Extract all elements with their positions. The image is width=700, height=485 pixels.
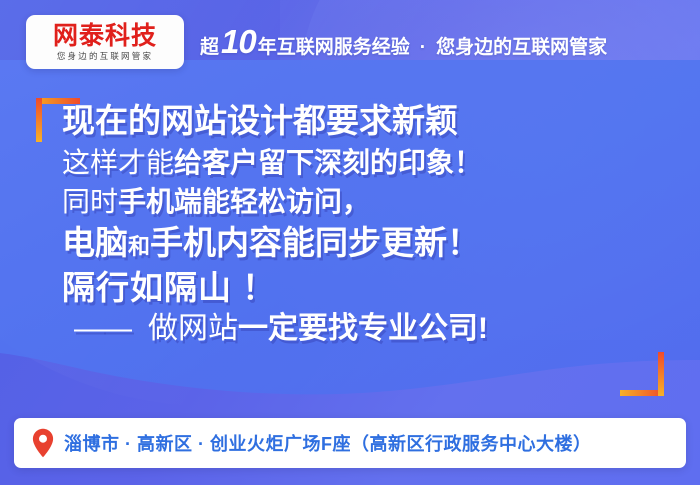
tagline-tail: 您身边的互联网管家 [436,32,607,59]
corner-bracket-bottom-right-icon [620,352,664,396]
headline-em-dash: —— [74,314,130,344]
tagline-prefix: 超 [200,32,219,59]
headline-line-6: ——做网站一定要找专业公司! [62,314,662,344]
location-pin-icon [32,428,54,458]
headline-line-6-bold: 一定要找专业公司! [238,312,488,345]
header-tagline: 超 10 年互联网服务经验 · 您身边的互联网管家 [200,23,607,61]
tagline-separator: · [420,37,426,59]
logo-slogan: 您身边的互联网管家 [57,52,153,61]
tagline-rest: 年互联网服务经验 [258,32,410,59]
headline-line-2: 这样才能给客户留下深刻的印象！ [62,149,662,177]
promo-banner: 网泰科技 您身边的互联网管家 超 10 年互联网服务经验 · 您身边的互联网管家… [0,0,700,485]
headline-line-3-bold: 手机端能轻松访问， [118,186,370,217]
headline-line-4-part-b: 手机内容能同步更新！ [150,224,480,261]
headline-line-3: 同时手机端能轻松访问， [62,188,662,216]
logo-name: 网泰科技 [53,23,157,48]
headline-block: 现在的网站设计都要求新颖 这样才能给客户留下深刻的印象！ 同时手机端能轻松访问，… [62,104,662,344]
headline-line-4: 电脑和手机内容能同步更新！ [62,226,662,259]
headline-line-5: 隔行如隔山 ！ [62,271,662,304]
company-logo: 网泰科技 您身边的互联网管家 [26,15,184,69]
headline-line-6-light: 做网站 [148,312,238,345]
tagline-years-number: 10 [221,23,256,61]
bracket-vertical-bar [36,98,42,142]
footer-address-bar: 淄博市 · 高新区 · 创业火炬广场F座（高新区行政服务中心大楼） [14,418,686,468]
headline-line-1: 现在的网站设计都要求新颖 [62,104,662,137]
headline-line-4-part-a: 电脑 [62,224,128,261]
headline-line-2-bold: 给客户留下深刻的印象！ [174,147,482,178]
footer-address-text: 淄博市 · 高新区 · 创业火炬广场F座（高新区行政服务中心大楼） [64,430,592,456]
headline-line-2-light: 这样才能 [62,147,174,178]
bracket-vertical-bar [658,352,664,396]
banner-header: 网泰科技 您身边的互联网管家 超 10 年互联网服务经验 · 您身边的互联网管家 [0,0,700,84]
headline-line-4-conjunction: 和 [128,234,150,259]
headline-line-3-light: 同时 [62,186,118,217]
